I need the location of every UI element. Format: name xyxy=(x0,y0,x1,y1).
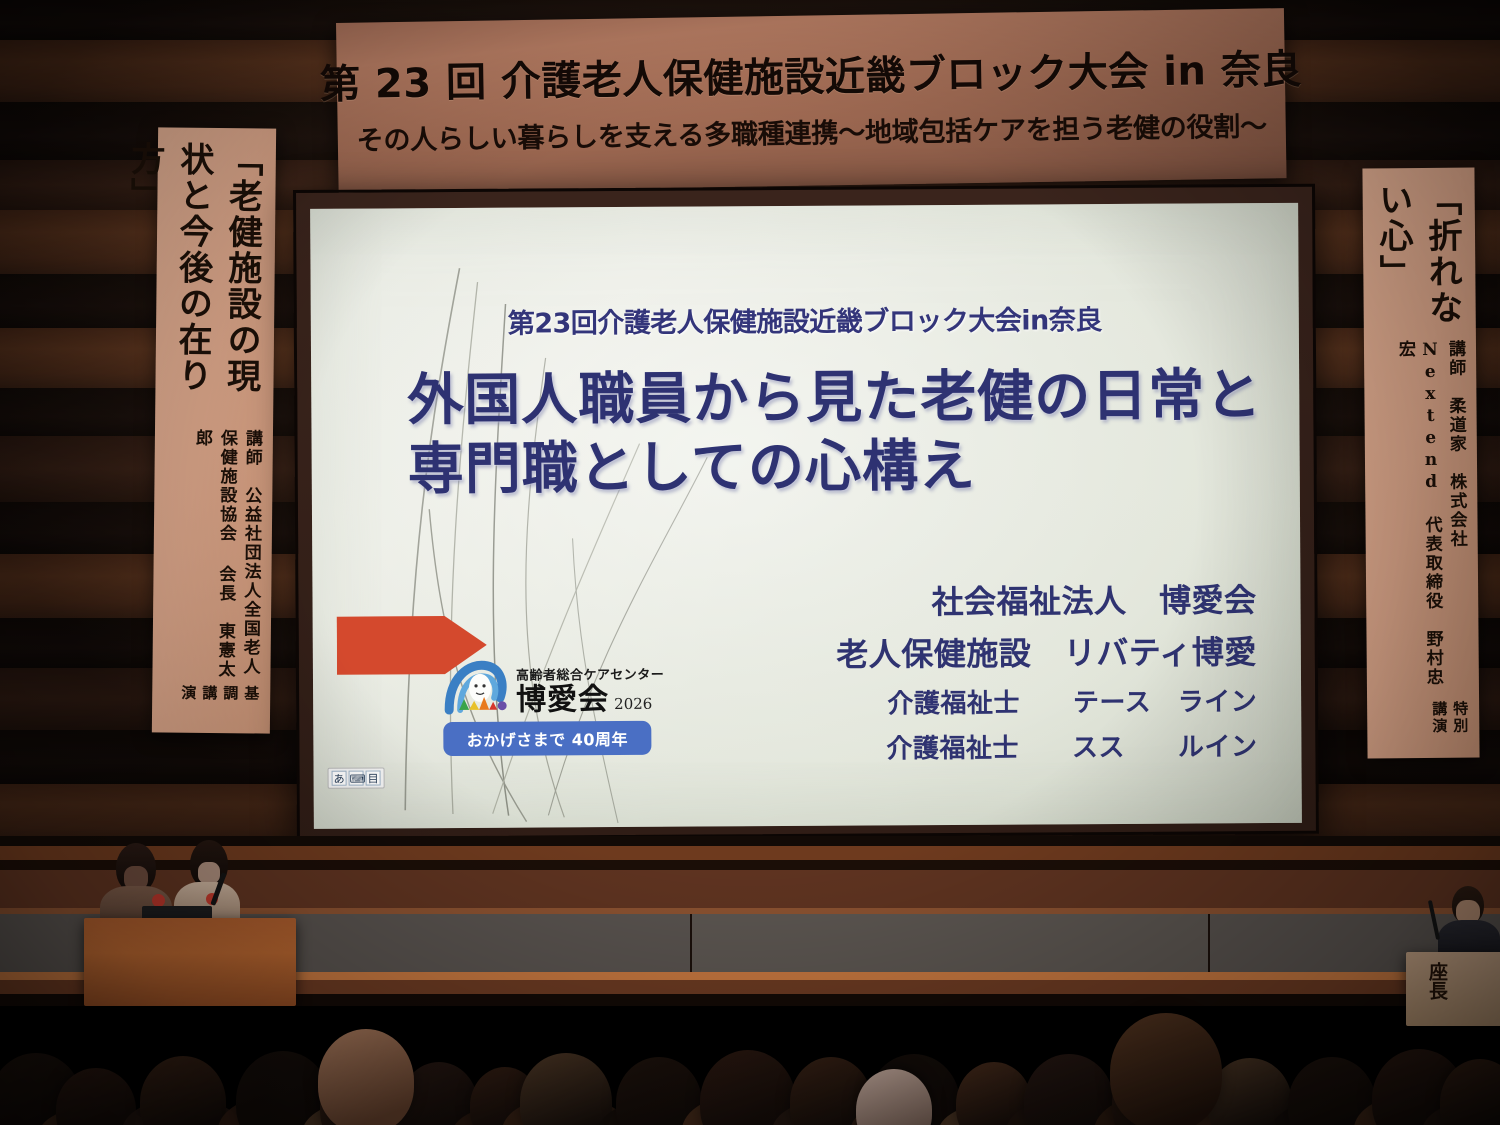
slide-title: 外国人職員から見た老健の日常と 専門職としての心構え xyxy=(407,365,1268,502)
keynote-title: 「老健施設の現状と今後の在り方」 xyxy=(118,141,268,429)
anniversary-badge: おかげさまで 40周年 xyxy=(443,721,651,756)
special-speaker: 講師 柔道家 株式会社Nextend 代表取締役 野村忠宏 xyxy=(1393,340,1471,702)
audience-head xyxy=(520,1053,612,1125)
special-title: 「折れない心」 xyxy=(1369,182,1468,341)
ime-mode-icon[interactable]: あ xyxy=(332,771,347,786)
presenter-name-2: 介護福祉士 スス ルイン xyxy=(737,726,1257,766)
stage-gray-panel xyxy=(690,914,1210,972)
projection-screen: 第23回介護老人保健施設近畿ブロック大会in奈良 外国人職員から見た老健の日常と… xyxy=(310,203,1302,829)
audience-head xyxy=(140,1056,226,1125)
presenter-info: 社会福祉法人 博愛会 老人保健施設 リバティ博愛 介護福祉士 テース ライン 介… xyxy=(736,575,1257,766)
keynote-lecture-banner: 「老健施設の現状と今後の在り方」 講師 公益社団法人全国老人保健施設協会 会長 … xyxy=(152,127,276,733)
audience-head xyxy=(318,1029,414,1125)
audience-head xyxy=(1110,1013,1222,1125)
stage-band xyxy=(0,836,1500,846)
conference-hall-photo: 第 23 回 介護老人保健施設近畿ブロック大会 in 奈良 その人らしい暮らしを… xyxy=(0,0,1500,1125)
ime-keyboard-icon[interactable]: ⌨ xyxy=(349,771,364,786)
keynote-speaker: 講師 公益社団法人全国老人保健施設協会 会長 東憲太郎 xyxy=(187,428,265,685)
event-banner-line1: 第 23 回 介護老人保健施設近畿ブロック大会 in 奈良 xyxy=(319,37,1302,110)
projection-screen-frame: 第23回介護老人保健施設近畿ブロック大会in奈良 外国人職員から見た老健の日常と… xyxy=(293,184,1319,840)
slide-title-line2: 専門職としての心構え xyxy=(408,434,1268,502)
event-title-banner: 第 23 回 介護老人保健施設近畿ブロック大会 in 奈良 その人らしい暮らしを… xyxy=(336,8,1287,193)
presenter-name-1: 介護福祉士 テース ライン xyxy=(737,681,1257,721)
ime-tool-icon[interactable]: 目 xyxy=(366,770,381,785)
logo-name: 博愛会 xyxy=(516,685,609,716)
ime-indicator[interactable]: あ ⌨ 目 xyxy=(328,767,385,788)
hakuaikai-logo-icon xyxy=(443,658,509,716)
organization-line2: 老人保健施設 リバティ博愛 xyxy=(737,627,1257,676)
organization-line1: 社会福祉法人 博愛会 xyxy=(736,575,1256,624)
keynote-kind-label: 基調講演 xyxy=(178,685,262,720)
special-kind-label: 特別講演 xyxy=(1429,701,1471,744)
slide-subtitle: 第23回介護老人保健施設近畿ブロック大会in奈良 xyxy=(311,297,1299,342)
special-lecture-banner: 「折れない心」 講師 柔道家 株式会社Nextend 代表取締役 野村忠宏 特別… xyxy=(1362,168,1479,759)
event-banner-line2: その人らしい暮らしを支える多職種連携〜地域包括ケアを担う老健の役割〜 xyxy=(356,104,1267,157)
chair-podium-label: 座長 xyxy=(1424,962,1451,1000)
logo-year: 2026 xyxy=(614,697,652,712)
audience-silhouettes xyxy=(0,975,1500,1125)
logo-tagline: 高齢者総合ケアセンター xyxy=(516,669,664,683)
hakuaikai-logo-block: 高齢者総合ケアセンター 博愛会 2026 おかげさまで 40周年 xyxy=(443,657,665,756)
slide-title-line1: 外国人職員から見た老健の日常と xyxy=(407,365,1267,433)
